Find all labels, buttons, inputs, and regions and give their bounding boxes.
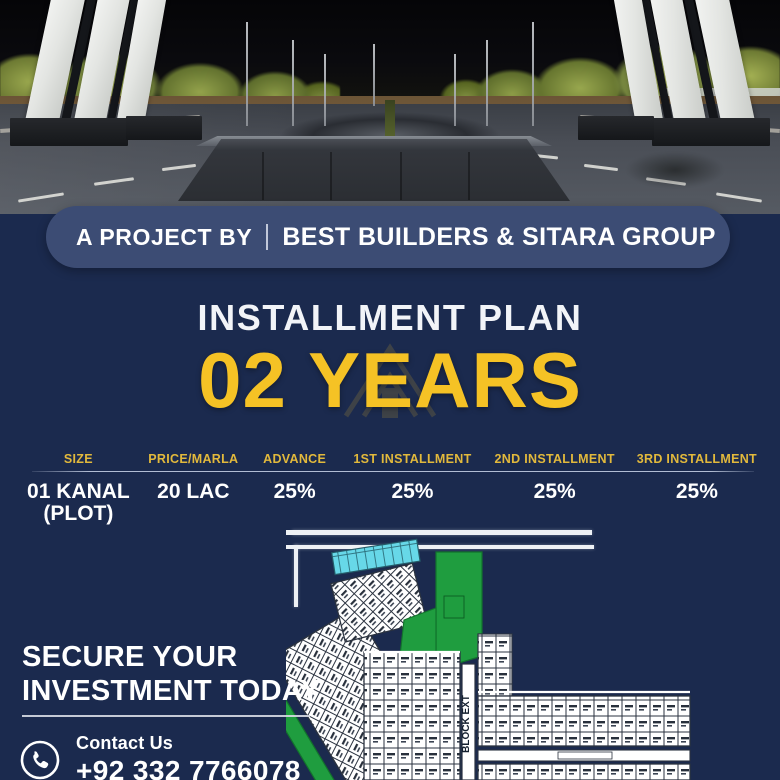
column-header-price-per-marla: PRICE/MARLA (139, 452, 248, 466)
planter-rib (330, 152, 332, 200)
street-light-pole (324, 54, 326, 126)
gate-base (578, 116, 654, 140)
cell-size-sub: (PLOT) (18, 503, 139, 525)
cta-line-1: SECURE YOUR (22, 640, 320, 674)
hero-render-image (0, 0, 780, 214)
street-light-pole (454, 54, 456, 126)
banner-company-name: BEST BUILDERS & SITARA GROUP (282, 223, 715, 252)
cta-block: SECURE YOUR INVESTMENT TODAY (22, 640, 320, 717)
street-light-pole (486, 40, 488, 126)
planter-rib (262, 152, 264, 200)
map-block-right-narrow (478, 634, 512, 696)
street-light-pole (532, 22, 534, 126)
installment-plan-table: SIZE PRICE/MARLA ADVANCE 1ST INSTALLMENT… (18, 452, 768, 525)
median-planter-box (178, 139, 570, 201)
column-header-installment-1: 1ST INSTALLMENT (341, 452, 483, 466)
headline-years: 02 YEARS (0, 340, 780, 422)
column-header-installment-2: 2ND INSTALLMENT (484, 452, 626, 466)
banner-prefix-label: A PROJECT BY (76, 224, 252, 251)
planter-rib (468, 152, 470, 200)
banner-divider (266, 224, 268, 250)
headline-subtitle: INSTALLMENT PLAN (0, 300, 780, 336)
cell-installment-2: 25% (484, 481, 626, 503)
street-light-pole (292, 40, 294, 126)
contact-phone-number[interactable]: +92 332 7766078 (76, 755, 301, 780)
cta-underline (22, 715, 310, 717)
contact-texts: Contact Us +92 332 7766078 (76, 733, 301, 780)
planter-rib (400, 152, 402, 200)
contact-label: Contact Us (76, 733, 301, 754)
poster-root: A PROJECT BY BEST BUILDERS & SITARA GROU… (0, 0, 780, 780)
gate-base (10, 118, 128, 146)
map-block-label: BLOCK EXT (461, 695, 472, 753)
column-header-installment-3: 3RD INSTALLMENT (626, 452, 768, 466)
map-block-center (364, 652, 460, 780)
site-plan-svg: BLOCK EXT (286, 524, 780, 780)
cell-price-per-marla: 20 LAC (139, 481, 248, 503)
map-road-label-box (558, 752, 612, 759)
map-block-right-upper (478, 696, 690, 746)
project-by-banner: A PROJECT BY BEST BUILDERS & SITARA GROU… (46, 206, 730, 268)
cell-installment-1: 25% (341, 481, 483, 503)
street-light-pole (246, 22, 248, 126)
phone-icon (18, 738, 62, 780)
table-row: 01 KANAL (PLOT) 20 LAC 25% 25% 25% 25% (18, 481, 768, 525)
map-block-right-lower (478, 764, 690, 780)
column-header-advance: ADVANCE (248, 452, 342, 466)
cell-size: 01 KANAL (PLOT) (18, 481, 139, 525)
cell-installment-3: 25% (626, 481, 768, 503)
street-light-pole-center (373, 44, 375, 106)
cell-size-main: 01 KANAL (27, 480, 130, 503)
contact-block[interactable]: Contact Us +92 332 7766078 (18, 733, 301, 780)
site-plan-map[interactable]: BLOCK EXT (286, 524, 780, 780)
palm-shadow (600, 138, 750, 214)
table-divider (32, 471, 754, 472)
table-header-row: SIZE PRICE/MARLA ADVANCE 1ST INSTALLMENT… (18, 452, 768, 466)
cta-line-2: INVESTMENT TODAY (22, 674, 320, 708)
headline-block: INSTALLMENT PLAN 02 YEARS (0, 300, 780, 422)
map-road-top (286, 530, 446, 535)
gate-base (126, 116, 202, 140)
cell-advance: 25% (248, 481, 342, 503)
column-header-size: SIZE (18, 452, 139, 466)
